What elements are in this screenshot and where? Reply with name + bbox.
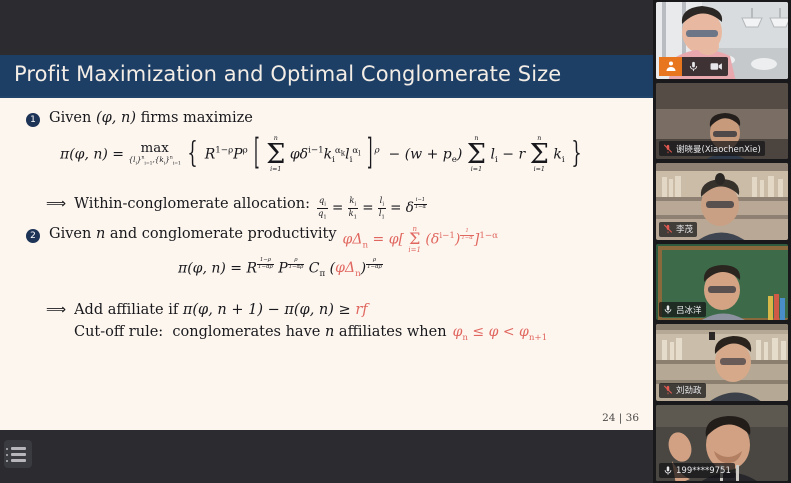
equation-2: π(φ, n) = R1−ρ1−αρ Pρ1−αρ Cπ (φΔn)ρ1−αρ [178,258,383,279]
participant-name: 刘劲政 [676,384,702,396]
cutoff-equation: φn ≤ φ < φn+1 [453,324,548,343]
allocation-label: Within-conglomerate allocation: [74,196,310,212]
microphone-icon[interactable] [682,57,705,76]
meeting-screen-share-window: Profit Maximization and Optimal Conglome… [0,0,791,483]
bullet-1-text: Given (φ, n) firms maximize [49,110,253,126]
bullet-item-2: 2 Given n and conglomerate productivity … [26,226,498,253]
microphone-icon [663,304,673,315]
allocation-line: ⟹ Within-conglomerate allocation: qiq1 =… [46,196,427,221]
participant-tile[interactable]: 李茂 [656,163,788,240]
slide-body: 1 Given (φ, n) firms maximize π(φ, n) = … [0,98,653,430]
participant-name: 199****9751 [676,466,731,476]
list-menu-icon[interactable] [4,440,32,468]
bullet-item-1: 1 Given (φ, n) firms maximize [26,110,253,127]
video-icon[interactable] [705,57,728,76]
bullet-marker: 2 [26,229,40,243]
cutoff-text: Cut-off rule: conglomerates have n affil… [74,324,447,340]
mic-muted-icon [663,385,673,395]
implies-arrow-1: ⟹ [46,196,66,212]
productivity-equation: φΔn = φ[ nΣi=1 (δi−1)11−α]1−α [343,226,498,253]
equation-1: π(φ, n) = max{li}ni=1,{ki}ni=1 { R1−ρPρ … [60,136,584,173]
participant-tile[interactable]: 刘劲政 [656,324,788,401]
participant-video-strip[interactable]: 谢晓曼(XiaochenXie) [653,0,791,483]
bullet-marker: 1 [26,113,40,127]
implies-arrow-2: ⟹ [46,302,66,318]
participant-name: 谢晓曼(XiaochenXie) [676,143,761,155]
participant-name-tag: 谢晓曼(XiaochenXie) [659,141,765,156]
slide-title-bar: Profit Maximization and Optimal Conglome… [0,55,653,98]
affiliate-line: ⟹ Add affiliate if π(φ, n + 1) − π(φ, n)… [46,302,368,318]
participant-tile[interactable] [656,2,788,79]
allocation-equation: qiq1 = kik1 = lil1 = δi−11−α [317,196,427,221]
participant-tile[interactable]: 吕冰洋 [656,244,788,321]
affiliate-text: Add affiliate if π(φ, n + 1) − π(φ, n) ≥… [74,302,368,318]
host-controls[interactable] [659,57,728,76]
slide: Profit Maximization and Optimal Conglome… [0,55,653,430]
cutoff-line: Cut-off rule: conglomerates have n affil… [74,324,547,343]
presentation-viewer: Profit Maximization and Optimal Conglome… [0,0,653,483]
bullet-2-text: Given n and conglomerate productivity [49,226,337,242]
participant-name-tag: 吕冰洋 [659,302,706,317]
participant-name-tag: 李茂 [659,222,697,237]
participant-tile-active[interactable]: 199****9751 [656,405,788,482]
mic-muted-icon [663,224,673,234]
participant-tile[interactable]: 谢晓曼(XiaochenXie) [656,83,788,160]
mic-muted-icon [663,144,673,154]
equation-2-math: π(φ, n) = R1−ρ1−αρ Pρ1−αρ Cπ (φΔn)ρ1−αρ [178,258,383,279]
page-indicator: 24 | 36 [602,412,639,424]
participant-name-tag: 刘劲政 [659,383,706,398]
slide-title: Profit Maximization and Optimal Conglome… [14,62,561,86]
host-icon[interactable] [659,57,682,76]
microphone-icon [663,465,673,476]
viewer-bottom-bar [0,430,653,483]
participant-name: 李茂 [676,223,693,235]
participant-name-tag: 199****9751 [659,463,735,478]
participant-name: 吕冰洋 [676,304,702,316]
equation-1-math: π(φ, n) = max{li}ni=1,{ki}ni=1 { R1−ρPρ … [60,136,584,173]
